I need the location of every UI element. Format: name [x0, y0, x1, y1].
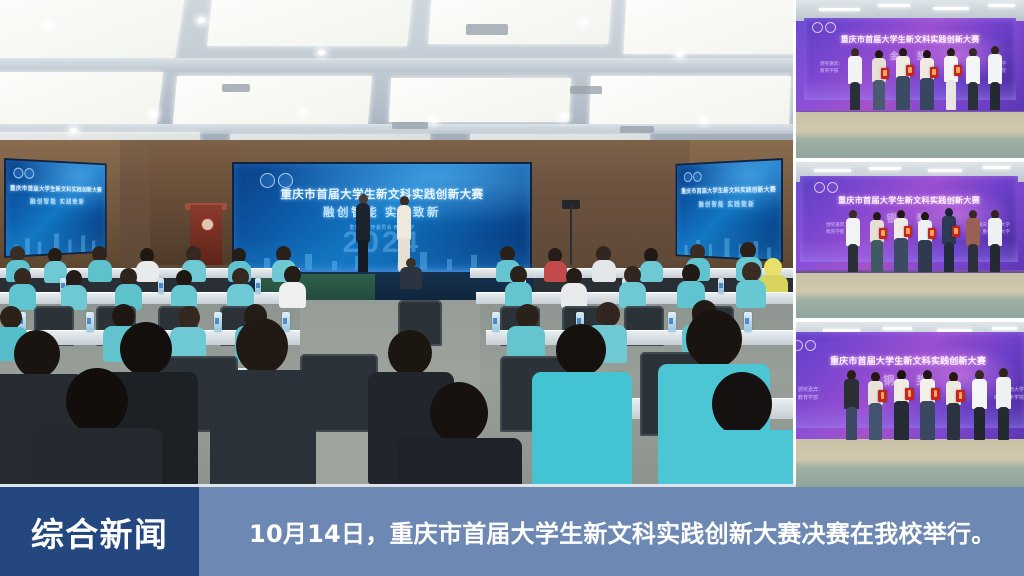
award-person	[846, 210, 860, 272]
main-photo: 重庆市首届大学生新文科实践创新大赛 融创智能 实践致新 2	[0, 0, 793, 487]
gold-panel-title: 重庆市首届大学生新文科实践创新大赛	[804, 34, 1016, 45]
host-male	[355, 194, 371, 272]
award-person	[844, 370, 859, 440]
ceiling	[0, 0, 793, 152]
screenshot-root: 重庆市首届大学生新文科实践创新大赛 融创智能 实践致新 2	[0, 0, 1024, 576]
tripod	[570, 205, 572, 265]
award-panel-gold: 重庆市首届大学生新文科实践创新大赛 金 奖 颁奖嘉宾： 教育学部 西南大学 美术…	[796, 0, 1024, 158]
award-panel-bronze: 重庆市首届大学生新文科实践创新大赛 铜 奖 颁奖嘉宾： 教育学部 西南大学 四川…	[796, 322, 1024, 487]
award-person	[868, 372, 883, 440]
award-person	[996, 368, 1011, 440]
main-screen-subtitle: 融创智能 实践致新	[234, 204, 530, 220]
main-screen-title: 重庆市首届大学生新文科实践创新大赛	[234, 186, 530, 202]
left-screen-title: 重庆市首届大学生新文科实践创新大赛	[6, 183, 105, 194]
award-person	[944, 48, 958, 110]
desk-row	[0, 292, 300, 304]
seated-presenter	[400, 258, 422, 288]
award-person	[988, 210, 1002, 272]
award-person	[972, 370, 987, 440]
water-bottle	[255, 278, 261, 294]
gold-panel-left-caption: 颁奖嘉宾： 教育学部	[820, 60, 843, 74]
award-person	[848, 48, 862, 110]
award-person	[894, 210, 908, 272]
award-person	[870, 212, 884, 272]
award-person	[920, 50, 934, 110]
news-category-label: 综合新闻	[31, 508, 168, 556]
water-bottle	[668, 312, 676, 332]
news-caption-text: 10月14日，重庆市首届大学生新文科实践创新大赛决赛在我校举行。	[249, 514, 995, 549]
water-bottle	[744, 312, 752, 332]
news-caption-block: 10月14日，重庆市首届大学生新文科实践创新大赛决赛在我校举行。	[199, 487, 1024, 576]
bronze-panel-left-caption: 颁奖嘉宾： 教育学部	[798, 386, 823, 402]
award-person	[894, 370, 909, 440]
award-person	[966, 48, 980, 110]
bronze-panel-title: 重庆市首届大学生新文科实践创新大赛	[796, 354, 1024, 367]
side-screen-left: 重庆市首届大学生新文科实践创新大赛 融创智能 实践致新	[4, 158, 107, 258]
award-photo-column: 重庆市首届大学生新文科实践创新大赛 金 奖 颁奖嘉宾： 教育学部 西南大学 美术…	[796, 0, 1024, 487]
award-person	[966, 210, 980, 272]
bronze-panel-award-label: 铜 奖	[796, 372, 1024, 388]
award-person	[872, 50, 886, 110]
water-bottle	[214, 312, 222, 332]
news-banner: 综合新闻 10月14日，重庆市首届大学生新文科实践创新大赛决赛在我校举行。	[0, 487, 1024, 576]
award-person	[942, 208, 956, 272]
award-person	[896, 48, 910, 110]
news-category-block: 综合新闻	[0, 487, 199, 576]
water-bottle	[492, 312, 500, 332]
award-panel-silver: 重庆市首届大学生新文科实践创新大赛 银 奖 颁奖嘉宾： 教育学部 重庆大数据大学…	[796, 162, 1024, 318]
podium-emblem-icon	[201, 218, 214, 231]
left-screen-subtitle: 融创智能 实践致新	[6, 196, 105, 205]
main-screen-organizers: 重庆市教育委员会 西南大学	[234, 224, 530, 231]
award-person	[918, 212, 932, 272]
right-screen-subtitle: 融创智能 实践致新	[677, 198, 781, 208]
award-person	[920, 370, 935, 440]
right-screen-title: 重庆市首届大学生新文科实践创新大赛	[677, 184, 781, 195]
water-bottle	[158, 278, 164, 294]
silver-panel-title: 重庆市首届大学生新文科实践创新大赛	[800, 194, 1018, 206]
award-person	[988, 46, 1002, 110]
water-bottle	[86, 312, 94, 332]
award-person	[946, 372, 961, 440]
water-bottle	[718, 278, 724, 294]
